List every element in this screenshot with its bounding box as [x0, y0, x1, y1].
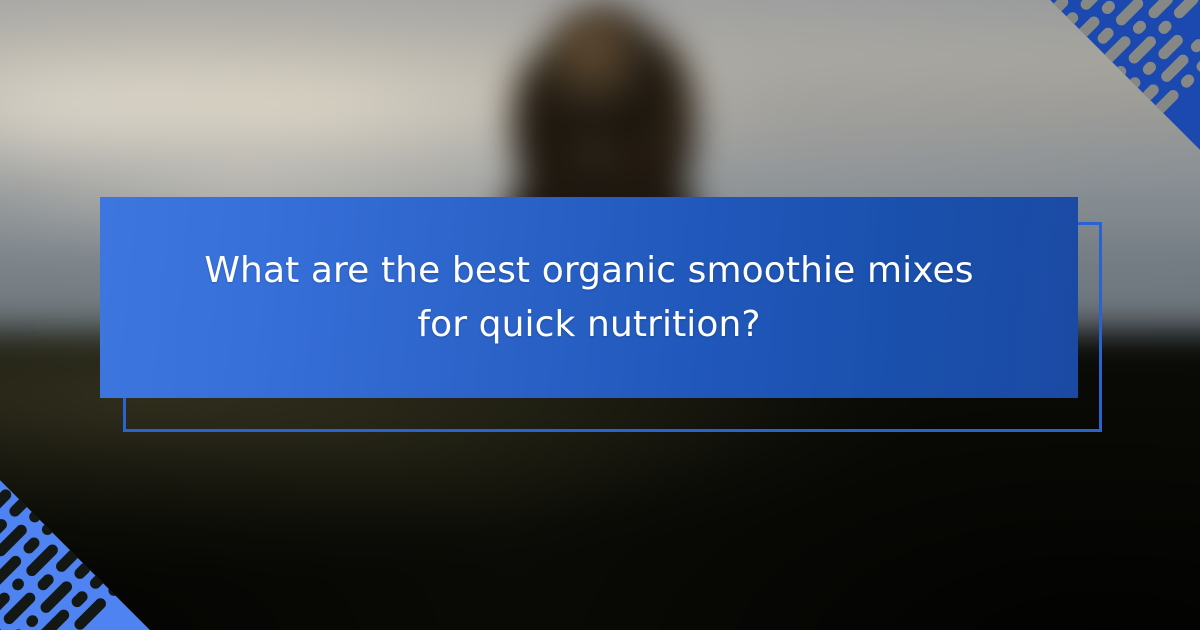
- social-card-canvas: What are the best organic smoothie mixes…: [0, 0, 1200, 630]
- question-title: What are the best organic smoothie mixes…: [189, 244, 989, 352]
- question-banner: What are the best organic smoothie mixes…: [100, 197, 1078, 398]
